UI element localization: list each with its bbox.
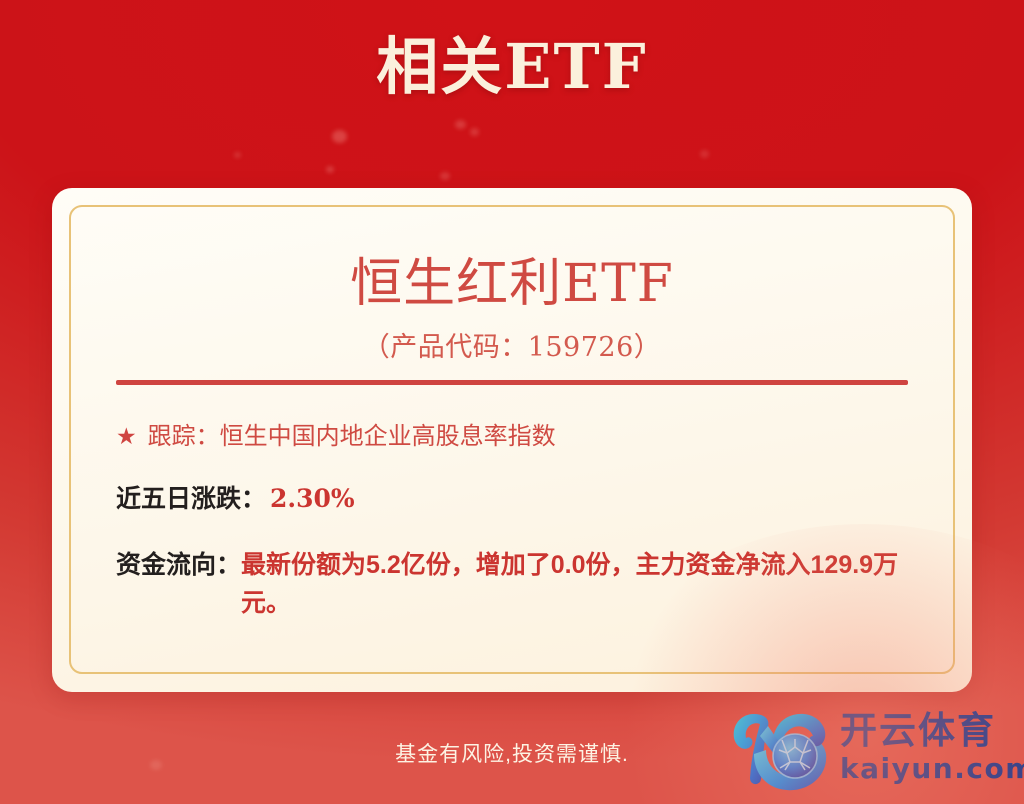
brand-logo: 开云体育 kaiyun.com bbox=[724, 700, 1016, 796]
poster-canvas: 相关ETF 恒生红利ETF （产品代码：159726） ★ 跟踪： 恒生中国内地… bbox=[0, 0, 1024, 804]
brand-name-cn: 开云体育 bbox=[840, 712, 1024, 751]
bokeh-particle bbox=[326, 166, 334, 173]
poster-title: 相关ETF bbox=[0, 34, 1024, 99]
card-gold-border: 恒生红利ETF （产品代码：159726） ★ 跟踪： 恒生中国内地企业高股息率… bbox=[69, 205, 955, 674]
fund-code: （产品代码：159726） bbox=[71, 325, 953, 364]
tracking-label: 跟踪： bbox=[148, 420, 220, 455]
section-divider bbox=[116, 380, 908, 385]
bokeh-particle bbox=[234, 152, 241, 158]
star-icon: ★ bbox=[116, 420, 137, 453]
etf-info-card: 恒生红利ETF （产品代码：159726） ★ 跟踪： 恒生中国内地企业高股息率… bbox=[52, 188, 972, 692]
kaiyun-swirl-soccer-icon bbox=[724, 702, 836, 794]
five-day-change-value: 2.30% bbox=[270, 481, 355, 517]
five-day-change-label: 近五日涨跌： bbox=[116, 481, 266, 517]
bokeh-particle bbox=[440, 172, 450, 180]
tracking-index-row: ★ 跟踪： 恒生中国内地企业高股息率指数 bbox=[116, 420, 917, 455]
fund-detail-rows: ★ 跟踪： 恒生中国内地企业高股息率指数 近五日涨跌： 2.30% 资金流向： … bbox=[116, 420, 917, 622]
fund-name: 恒生红利ETF bbox=[71, 255, 953, 313]
brand-logo-text: 开云体育 kaiyun.com bbox=[840, 712, 1024, 785]
bokeh-particle bbox=[332, 130, 347, 143]
five-day-change-row: 近五日涨跌： 2.30% bbox=[116, 481, 917, 517]
bokeh-particle bbox=[470, 128, 479, 136]
fund-flow-row: 资金流向： 最新份额为5.2亿份，增加了0.0份，主力资金净流入129.9万元。 bbox=[116, 547, 917, 622]
bokeh-particle bbox=[700, 150, 709, 158]
brand-url: kaiyun.com bbox=[840, 754, 1024, 785]
bokeh-particle bbox=[455, 120, 466, 129]
fund-flow-value: 最新份额为5.2亿份，增加了0.0份，主力资金净流入129.9万元。 bbox=[241, 547, 917, 622]
fund-flow-label: 资金流向： bbox=[116, 547, 241, 585]
tracking-index-value: 恒生中国内地企业高股息率指数 bbox=[220, 420, 556, 455]
